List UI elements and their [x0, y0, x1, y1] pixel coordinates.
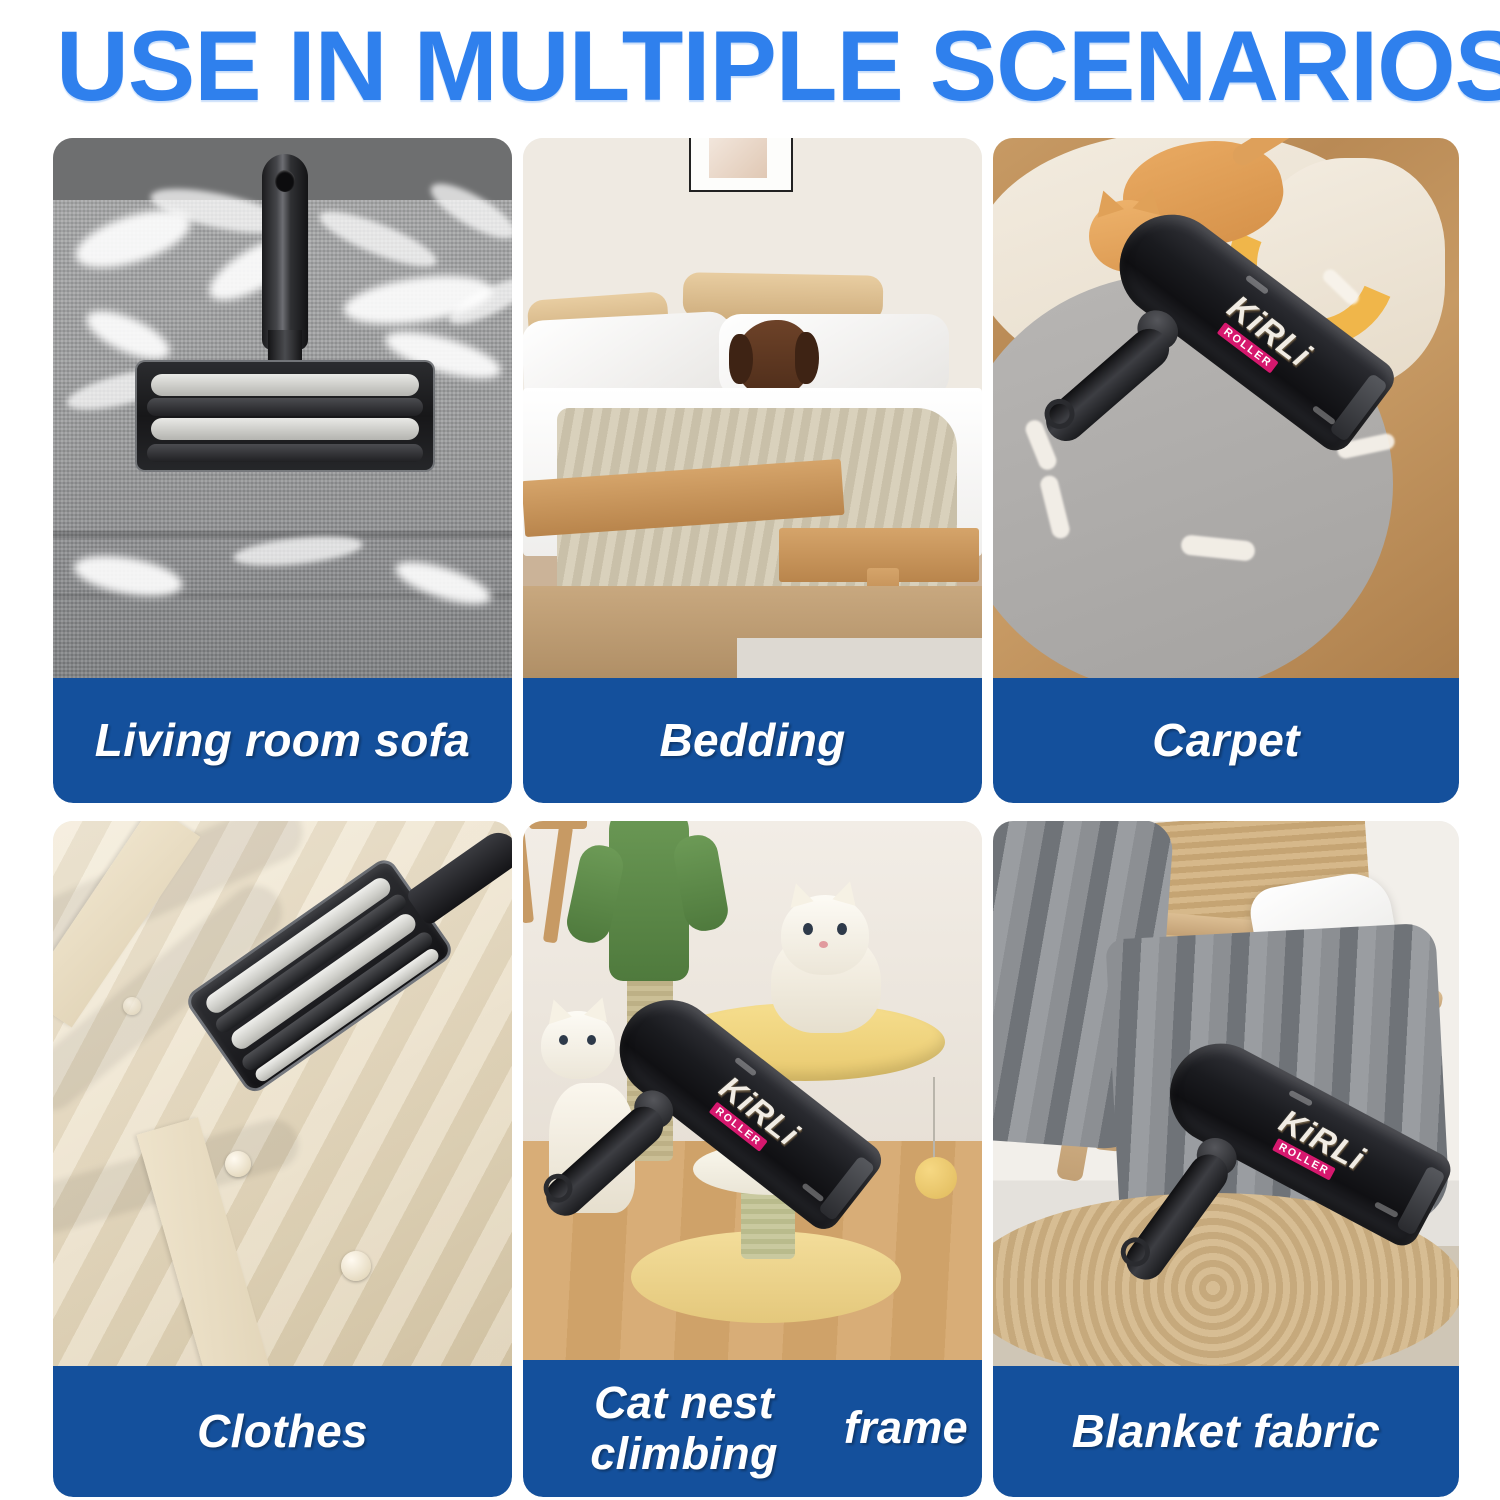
card-caption: Bedding — [523, 678, 982, 803]
shirt-button — [123, 997, 141, 1015]
scenario-card-blanket-fabric[interactable]: KiRLi ROLLER Blanket fabric — [993, 821, 1459, 1497]
scenario-card-carpet[interactable]: ★ ★ KiRLi ROLLER — [993, 138, 1459, 803]
shirt-button — [341, 1251, 371, 1281]
scenario-card-clothes[interactable]: Clothes — [53, 821, 512, 1497]
card-caption: Clothes — [53, 1366, 512, 1497]
card-caption: Cat nest climbing frame — [523, 1360, 982, 1497]
caption-line-1: Cat nest climbing — [537, 1378, 831, 1479]
photo-living-room-sofa — [53, 138, 512, 678]
photo-clothes — [53, 821, 512, 1366]
card-caption: Blanket fabric — [993, 1366, 1459, 1497]
caption-line-2: frame — [844, 1403, 968, 1453]
card-caption: Carpet — [993, 678, 1459, 803]
shirt-button — [225, 1151, 251, 1177]
scenario-card-cat-nest-climbing-frame[interactable]: KiRLi ROLLER Cat nest climbing frame — [523, 821, 982, 1497]
pom-pom-toy — [915, 1157, 957, 1199]
card-caption: Living room sofa — [53, 678, 512, 803]
page-title: USE IN MULTIPLE SCENARIOS — [56, 10, 1480, 122]
photo-cat-nest: KiRLi ROLLER — [523, 821, 982, 1366]
lint-roller-vertical — [135, 154, 435, 484]
photo-blanket-fabric: KiRLi ROLLER — [993, 821, 1459, 1366]
photo-bedding — [523, 138, 982, 678]
photo-carpet: ★ ★ KiRLi ROLLER — [993, 138, 1459, 678]
scenario-card-bedding[interactable]: Bedding — [523, 138, 982, 803]
scenario-card-living-room-sofa[interactable]: Living room sofa — [53, 138, 512, 803]
scenario-grid: Living room sofa Bedding — [53, 138, 1455, 1498]
